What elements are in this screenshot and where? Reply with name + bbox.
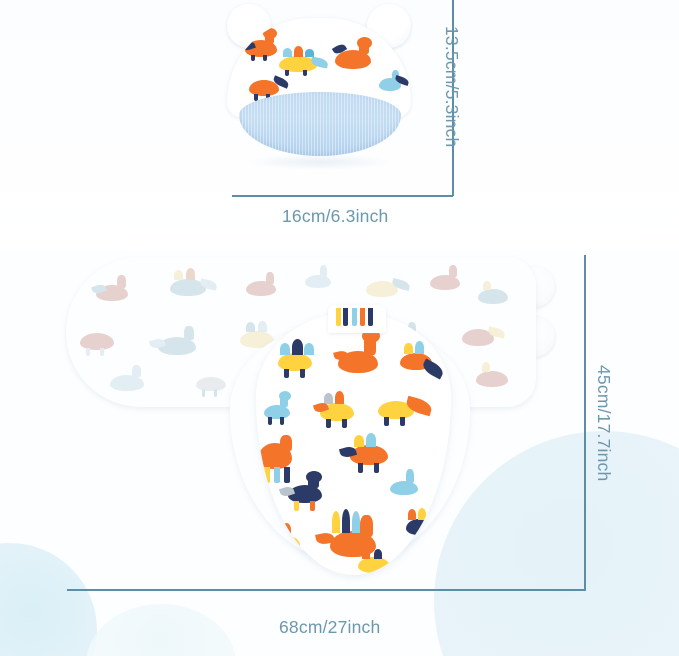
swaddle-wing-dino-13: [456, 315, 508, 353]
panel-dino-12: [260, 517, 316, 565]
swaddle-velcro-tab: [328, 305, 386, 333]
product-size-chart-image: 16cm/6.3inch 13.5cm/5.3inch: [0, 0, 679, 656]
panel-dino-10: [386, 465, 434, 507]
swaddle-wing-dino-2: [162, 265, 218, 303]
swaddle-width-label: 68cm/27inch: [279, 617, 380, 638]
panel-dino-4: [262, 391, 304, 429]
swaddle-front-panel: [256, 313, 451, 575]
swaddle-wing-dino-4: [302, 263, 342, 293]
panel-dino-6: [372, 387, 436, 431]
baby-beanie-hat: [219, 4, 419, 180]
panel-dino-1: [270, 337, 326, 381]
swaddle-wing-dino-1: [92, 273, 144, 307]
hat-width-dimension-line: [232, 195, 453, 197]
swaddle-height-dimension-line: [584, 255, 586, 590]
panel-dino-2: [334, 329, 392, 379]
swaddle-wing-dino-17: [470, 357, 522, 393]
hat-drop-shadow: [247, 154, 393, 170]
swaddle-wing-dino-6: [426, 263, 472, 295]
panel-dino-5: [314, 385, 370, 431]
hat-dino-print-5: [377, 68, 411, 98]
panel-dino-14: [352, 549, 408, 575]
swaddle-height-label: 45cm/17.7inch: [593, 365, 614, 481]
panel-dino-13: [398, 503, 446, 551]
swaddle-wing-dino-9: [150, 323, 210, 361]
panel-dino-3: [394, 335, 448, 383]
baby-swaddle-wrap: [60, 245, 585, 590]
swaddle-wing-dino-3: [244, 271, 288, 301]
hat-width-label: 16cm/6.3inch: [282, 206, 389, 227]
hat-height-label: 13.5cm/5.3inch: [441, 26, 462, 147]
tab-stripe-print: [334, 308, 382, 330]
swaddle-wing-dino-5: [362, 269, 412, 301]
background-circle-bottom-middle: [86, 604, 236, 656]
swaddle-wing-dino-7: [474, 277, 520, 309]
hat-ribbed-band: [239, 92, 401, 156]
hat-dino-print-3: [333, 36, 381, 72]
swaddle-width-dimension-line: [67, 589, 586, 591]
swaddle-wing-dino-14: [106, 363, 160, 397]
swaddle-wing-dino-8: [76, 319, 130, 355]
